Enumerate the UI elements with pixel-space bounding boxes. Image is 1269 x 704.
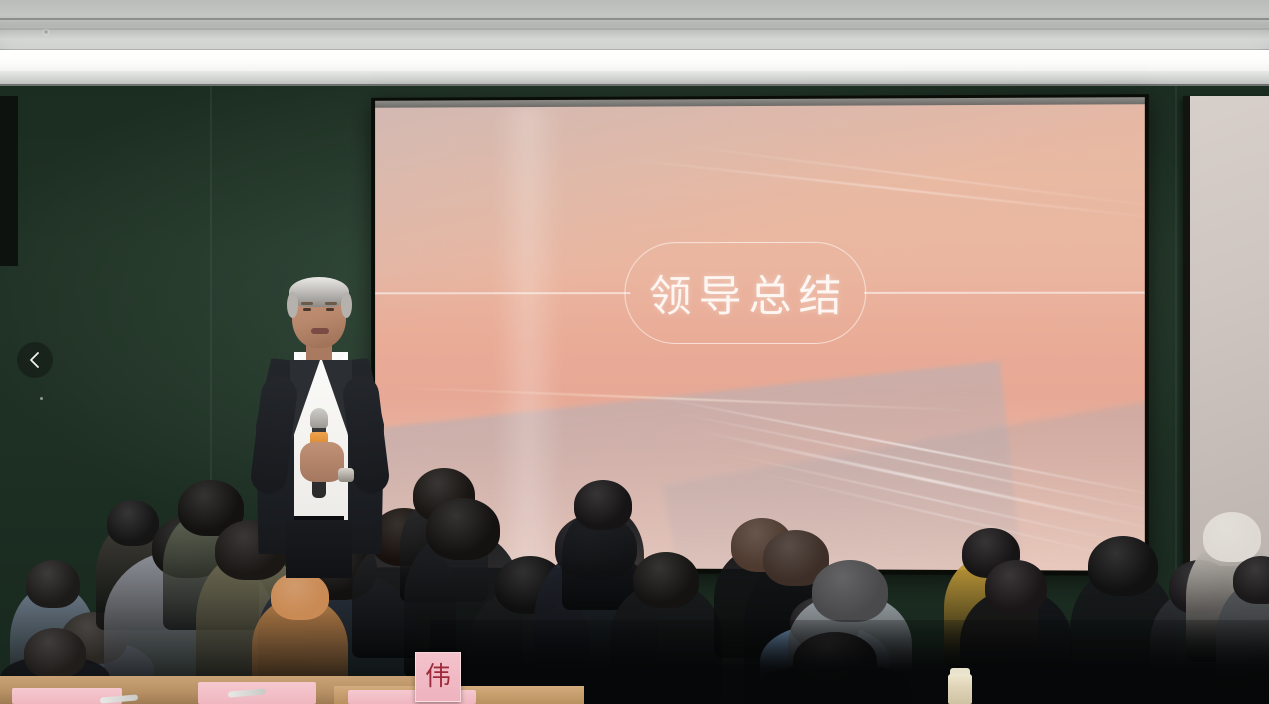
- projection-screen-frame: 领导总结: [371, 94, 1149, 576]
- name-placard-text: 伟: [425, 664, 451, 690]
- presenter-mouth: [311, 328, 329, 334]
- presenter-hair: [341, 292, 352, 318]
- projector-sheen: [493, 107, 562, 568]
- presenter-wristwatch: [338, 468, 354, 482]
- wall-alcove: [0, 96, 18, 266]
- presenter-eye: [326, 308, 334, 311]
- presenter: [250, 272, 390, 572]
- audience-member-head: [812, 560, 888, 622]
- audience-member-head: [633, 552, 699, 608]
- audience-member-head: [574, 480, 632, 530]
- presenter-hair: [289, 277, 349, 307]
- slide-title-text: 领导总结: [642, 262, 849, 324]
- secondary-whiteboard-panel: [1183, 96, 1269, 566]
- audience-member-head: [985, 560, 1047, 614]
- ceiling-fixture-screw: [44, 30, 48, 34]
- slide-decor-streak: [614, 157, 1145, 220]
- audience-member-head: [426, 498, 500, 560]
- ceiling-seam: [0, 28, 1269, 30]
- ceiling-seam: [0, 18, 1269, 20]
- presenter-eyebrow: [325, 302, 337, 305]
- projected-slide: 领导总结: [375, 104, 1145, 571]
- slide-rule-right: [864, 292, 1145, 294]
- presenter-eyebrow: [301, 302, 313, 305]
- slide-decor-streak: [674, 144, 1145, 209]
- ceiling-light-strip: [0, 50, 1269, 72]
- audience-member-head: [26, 560, 80, 608]
- lens-dust-dot: [40, 397, 43, 400]
- slide-title-pill: 领导总结: [624, 242, 866, 344]
- name-placard: 伟: [415, 652, 461, 702]
- audience-member-head: [271, 572, 329, 620]
- audience-member-head: [1088, 536, 1158, 596]
- chevron-left-icon: [28, 351, 42, 369]
- presenter-trousers: [286, 520, 352, 578]
- wall-panel-seam: [1175, 86, 1177, 586]
- slide-rule-left: [375, 292, 630, 294]
- photo-canvas: 领导总结: [0, 0, 1269, 704]
- microphone-icon: [310, 408, 328, 428]
- audience-member-head: [1203, 512, 1261, 562]
- audience-member-head: [24, 628, 86, 678]
- previous-photo-button[interactable]: [17, 342, 53, 378]
- water-bottle: [948, 674, 972, 704]
- presenter-eye: [303, 308, 311, 311]
- presenter-hair: [287, 292, 298, 318]
